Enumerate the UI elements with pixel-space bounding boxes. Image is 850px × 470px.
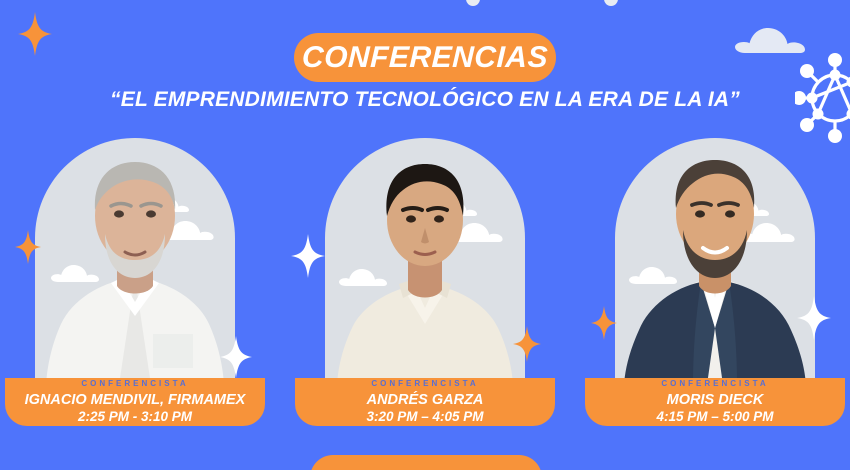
top-edge-decoration bbox=[604, 0, 618, 6]
speaker-time: 2:25 PM - 3:10 PM bbox=[78, 409, 192, 425]
top-edge-decoration bbox=[466, 0, 480, 6]
speaker-time: 4:15 PM – 5:00 PM bbox=[656, 409, 773, 425]
speaker-card[interactable]: CONFERENCISTA MORIS DIECK 4:15 PM – 5:00… bbox=[585, 138, 845, 423]
speaker-time: 3:20 PM – 4:05 PM bbox=[366, 409, 483, 425]
speaker-card[interactable]: CONFERENCISTA IGNACIO MENDIVIL, FIRMAMEX… bbox=[5, 138, 265, 423]
speaker-portrait bbox=[325, 138, 525, 385]
page-subtitle: “EL EMPRENDIMIENTO TECNOLÓGICO EN LA ERA… bbox=[0, 88, 850, 112]
sparkle-star-white-icon bbox=[291, 234, 325, 278]
speaker-portrait bbox=[615, 138, 815, 385]
speaker-name: MORIS DIECK bbox=[667, 391, 764, 409]
next-section-pill bbox=[310, 455, 542, 470]
speaker-role-label: CONFERENCISTA bbox=[371, 380, 478, 389]
speaker-card[interactable]: CONFERENCISTA ANDRÉS GARZA 3:20 PM – 4:0… bbox=[295, 138, 555, 423]
speaker-role-label: CONFERENCISTA bbox=[81, 380, 188, 389]
speaker-name: IGNACIO MENDIVIL, FIRMAMEX bbox=[25, 391, 246, 409]
speaker-info-band: CONFERENCISTA MORIS DIECK 4:15 PM – 5:00… bbox=[585, 378, 845, 426]
speaker-photo-frame bbox=[325, 138, 525, 385]
speaker-info-band: CONFERENCISTA IGNACIO MENDIVIL, FIRMAMEX… bbox=[5, 378, 265, 426]
speaker-info-band: CONFERENCISTA ANDRÉS GARZA 3:20 PM – 4:0… bbox=[295, 378, 555, 426]
sparkle-star-orange-icon bbox=[591, 306, 617, 340]
conferencias-title-pill: CONFERENCIAS bbox=[294, 33, 556, 82]
sparkle-star-orange-icon bbox=[15, 230, 41, 264]
sparkle-star-orange-icon bbox=[513, 326, 541, 362]
poster-canvas: CONFERENCIAS “EL EMPRENDIMIENTO TECNOLÓG… bbox=[0, 0, 850, 470]
page-title: CONFERENCIAS bbox=[301, 43, 548, 73]
speaker-name: ANDRÉS GARZA bbox=[367, 391, 484, 409]
speaker-portrait bbox=[35, 138, 235, 385]
sparkle-star-white-icon bbox=[220, 336, 252, 378]
speaker-role-label: CONFERENCISTA bbox=[661, 380, 768, 389]
speaker-photo-frame bbox=[35, 138, 235, 385]
speaker-photo-frame bbox=[615, 138, 815, 385]
sparkle-star-white-icon bbox=[797, 296, 831, 340]
sparkle-star-orange-icon bbox=[18, 12, 52, 56]
